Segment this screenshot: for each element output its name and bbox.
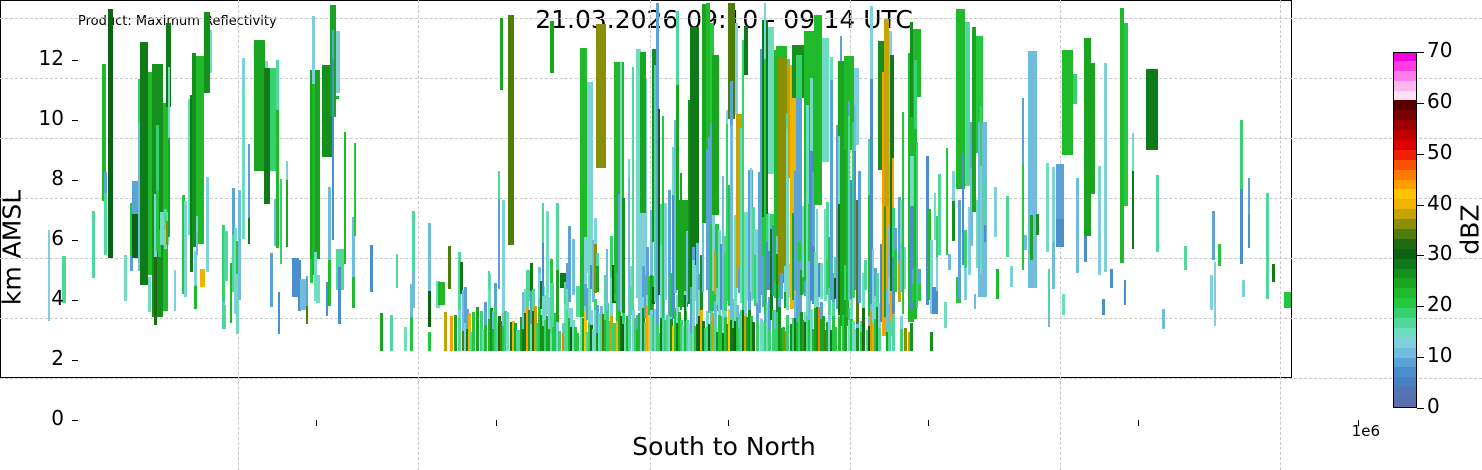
reflectivity-column [556, 203, 559, 270]
reflectivity-column [708, 137, 711, 196]
reflectivity-column [830, 80, 833, 300]
reflectivity-column [354, 143, 356, 236]
reflectivity-column [606, 249, 608, 311]
reflectivity-column [412, 272, 415, 308]
colorbar-band [1394, 357, 1416, 368]
reflectivity-column [1132, 171, 1134, 249]
reflectivity-column [1048, 310, 1050, 327]
reflectivity-column [498, 199, 500, 289]
reflectivity-column [306, 276, 308, 306]
reflectivity-column [168, 67, 170, 138]
colorbar-band [1394, 52, 1416, 61]
reflectivity-column [1006, 196, 1009, 257]
colorbar-label-wrap: dBZ [1390, 160, 1482, 300]
reflectivity-column [194, 286, 197, 309]
colorbar-band [1394, 60, 1416, 71]
reflectivity-column [184, 201, 187, 297]
reflectivity-column [994, 187, 997, 236]
reflectivity-column [712, 55, 719, 215]
reflectivity-column [914, 60, 917, 128]
reflectivity-column [494, 283, 497, 306]
reflectivity-column [640, 52, 646, 213]
reflectivity-column [1062, 294, 1065, 315]
reflectivity-column [476, 307, 479, 351]
reflectivity-column [238, 190, 241, 300]
reflectivity-column [1056, 164, 1064, 219]
reflectivity-column [786, 315, 789, 351]
reflectivity-column [876, 273, 879, 307]
reflectivity-column [894, 228, 897, 250]
reflectivity-column [714, 301, 717, 326]
reflectivity-column [410, 317, 413, 351]
colorbar-tick-mark [1417, 154, 1424, 155]
reflectivity-column [344, 132, 346, 263]
reflectivity-column [1218, 244, 1221, 266]
reflectivity-column [1240, 120, 1243, 189]
reflectivity-column [278, 292, 280, 335]
reflectivity-column [814, 15, 822, 205]
colorbar-band [1394, 386, 1416, 397]
colorbar-tick-label: 60 [1427, 89, 1452, 113]
reflectivity-column [1104, 63, 1107, 272]
reflectivity-column [558, 331, 561, 351]
reflectivity-column [588, 163, 591, 189]
reflectivity-column [1240, 189, 1243, 264]
reflectivity-column [856, 328, 859, 351]
reflectivity-column [1084, 236, 1087, 261]
reflectivity-column [568, 226, 571, 302]
reflectivity-column [910, 323, 913, 351]
reflectivity-column [964, 268, 967, 300]
reflectivity-column [590, 310, 593, 325]
y-axis-label-wrap: km AMSL [0, 88, 128, 288]
colorbar-band [1394, 119, 1416, 130]
reflectivity-column [900, 329, 903, 351]
reflectivity-column [242, 88, 245, 239]
y-tick-mark [72, 360, 78, 361]
reflectivity-column [248, 144, 250, 218]
reflectivity-column [622, 198, 625, 313]
reflectivity-column [1022, 164, 1024, 270]
reflectivity-column [656, 3, 659, 57]
reflectivity-column [200, 269, 205, 286]
reflectivity-column [316, 275, 320, 304]
colorbar-tick-mark [1417, 408, 1424, 409]
reflectivity-column [936, 258, 938, 292]
reflectivity-column [1248, 178, 1250, 215]
reflectivity-column [870, 6, 873, 78]
reflectivity-column [1084, 38, 1091, 235]
reflectivity-column [1091, 63, 1095, 194]
reflectivity-column [286, 161, 288, 179]
reflectivity-column [858, 171, 861, 303]
y-tick-mark [72, 300, 78, 301]
colorbar-band [1394, 367, 1416, 378]
reflectivity-column [1102, 299, 1105, 315]
reflectivity-column [1212, 211, 1215, 260]
reflectivity-column [174, 270, 176, 310]
reflectivity-column [472, 312, 475, 351]
reflectivity-column [336, 31, 340, 93]
colorbar-band [1394, 70, 1416, 81]
colorbar-band [1394, 100, 1416, 111]
reflectivity-column [312, 16, 315, 84]
reflectivity-column [338, 267, 341, 323]
colorbar-band [1394, 90, 1416, 101]
y-tick-mark [72, 60, 78, 61]
reflectivity-column [964, 230, 967, 268]
reflectivity-column [222, 305, 226, 328]
reflectivity-column [1028, 112, 1037, 288]
reflectivity-column [974, 294, 976, 309]
reflectivity-column [1110, 269, 1113, 288]
reflectivity-column [428, 332, 431, 351]
reflectivity-column [888, 321, 891, 351]
reflectivity-column [1098, 193, 1101, 275]
reflectivity-column [1184, 246, 1187, 270]
reflectivity-column [916, 142, 918, 308]
reflectivity-column [280, 226, 282, 264]
reflectivity-column [498, 171, 500, 199]
reflectivity-column [1272, 264, 1275, 281]
reflectivity-column [904, 247, 906, 289]
reflectivity-column [820, 263, 823, 298]
reflectivity-column [270, 253, 273, 308]
reflectivity-column [1214, 262, 1216, 326]
reflectivity-column [502, 200, 505, 313]
reflectivity-column [508, 15, 514, 244]
colorbar-tick-mark [1417, 52, 1424, 53]
x-tick-mark [928, 420, 929, 426]
reflectivity-column [944, 302, 947, 328]
reflectivity-column [332, 30, 334, 59]
reflectivity-column [904, 328, 907, 351]
reflectivity-column [692, 247, 695, 261]
reflectivity-column [556, 270, 559, 321]
reflectivity-column [958, 200, 961, 256]
reflectivity-column [938, 174, 941, 255]
y-tick-label: 12 [22, 46, 64, 70]
colorbar-band [1394, 377, 1416, 388]
reflectivity-column [892, 315, 895, 351]
reflectivity-column [276, 60, 279, 110]
reflectivity-column [844, 316, 847, 351]
reflectivity-column [996, 269, 999, 299]
reflectivity-column [768, 27, 774, 174]
reflectivity-column [328, 260, 331, 306]
reflectivity-column [894, 250, 897, 292]
reflectivity-column [628, 159, 630, 178]
reflectivity-column [448, 246, 451, 289]
reflectivity-column [140, 42, 148, 285]
reflectivity-column [834, 327, 837, 351]
reflectivity-column [764, 3, 766, 59]
y-tick-label: 2 [22, 346, 64, 370]
reflectivity-data [0, 0, 1292, 378]
colorbar-band [1394, 317, 1416, 328]
reflectivity-column [1073, 74, 1077, 104]
reflectivity-column [312, 84, 315, 275]
colorbar-band [1394, 80, 1416, 91]
reflectivity-column [242, 58, 245, 88]
reflectivity-column [822, 38, 828, 162]
reflectivity-column [756, 321, 759, 351]
reflectivity-column [276, 110, 279, 248]
reflectivity-column [932, 287, 938, 313]
reflectivity-column [1284, 292, 1291, 307]
reflectivity-column [864, 260, 867, 290]
reflectivity-column [664, 203, 667, 300]
reflectivity-column [744, 26, 748, 74]
reflectivity-column [370, 245, 373, 292]
reflectivity-column [542, 243, 544, 297]
reflectivity-column [148, 277, 151, 312]
reflectivity-column [730, 125, 733, 320]
reflectivity-column [798, 242, 801, 260]
reflectivity-column [206, 177, 209, 272]
reflectivity-column [862, 308, 865, 351]
x-tick-mark [1138, 420, 1139, 426]
reflectivity-column [488, 271, 490, 289]
reflectivity-column [286, 180, 288, 248]
reflectivity-column [632, 67, 634, 310]
reflectivity-column [830, 57, 833, 80]
colorbar-tick-mark [1417, 357, 1424, 358]
reflectivity-column [980, 166, 982, 274]
reflectivity-column [542, 203, 544, 242]
reflectivity-column [588, 188, 591, 322]
colorbar-band [1394, 337, 1416, 348]
colorbar-band [1394, 110, 1416, 121]
reflectivity-column [946, 148, 948, 254]
reflectivity-column [196, 216, 198, 231]
reflectivity-column [584, 237, 587, 284]
reflectivity-column [1162, 309, 1165, 329]
colorbar-band [1394, 347, 1416, 358]
radar-curtain-figure: Product: Maximum Reflectivity 21.03.2026… [0, 0, 1482, 470]
reflectivity-column [352, 277, 355, 308]
reflectivity-column [550, 21, 554, 74]
reflectivity-column [1052, 242, 1055, 289]
reflectivity-column [596, 266, 599, 292]
reflectivity-column [680, 173, 682, 311]
reflectivity-column [328, 187, 331, 260]
colorbar-tick-mark [1417, 306, 1424, 307]
reflectivity-column [735, 23, 739, 115]
colorbar-band [1394, 396, 1416, 407]
reflectivity-column [796, 55, 802, 96]
x-axis-offset-text: 1e6 [1300, 422, 1380, 440]
colorbar-band [1394, 149, 1416, 160]
reflectivity-column [154, 257, 157, 325]
reflectivity-column [576, 333, 579, 351]
reflectivity-column [854, 105, 856, 152]
colorbar-tick-label: 70 [1427, 38, 1452, 62]
reflectivity-column [596, 253, 599, 266]
reflectivity-column [1124, 23, 1128, 207]
reflectivity-column [572, 239, 575, 294]
reflectivity-column [1024, 235, 1027, 251]
reflectivity-column [506, 312, 509, 351]
y-tick-mark [72, 420, 78, 421]
reflectivity-column [948, 254, 951, 269]
reflectivity-column [816, 209, 818, 264]
reflectivity-column [1062, 50, 1073, 156]
colorbar-band [1394, 307, 1416, 318]
reflectivity-column [1156, 175, 1159, 252]
reflectivity-column [848, 101, 850, 116]
x-tick-mark [316, 420, 317, 426]
reflectivity-column [396, 254, 398, 288]
colorbar-band [1394, 139, 1416, 150]
reflectivity-column [1146, 69, 1158, 150]
reflectivity-column [958, 256, 961, 298]
reflectivity-column [438, 282, 445, 305]
reflectivity-column [196, 232, 198, 255]
colorbar-band [1394, 327, 1416, 338]
reflectivity-column [890, 55, 894, 158]
reflectivity-column [444, 312, 447, 351]
reflectivity-column [1132, 133, 1134, 171]
reflectivity-column [1056, 219, 1064, 248]
x-tick-mark [728, 420, 729, 426]
x-tick-mark [496, 420, 497, 426]
reflectivity-column [900, 316, 903, 329]
reflectivity-column [952, 201, 955, 241]
reflectivity-column [930, 332, 933, 351]
reflectivity-column [1022, 98, 1024, 164]
reflectivity-column [768, 330, 771, 351]
reflectivity-column [980, 106, 982, 166]
reflectivity-column [1028, 51, 1037, 112]
y-axis-label: km AMSL [0, 138, 27, 358]
reflectivity-column [596, 24, 606, 169]
reflectivity-column [984, 225, 986, 242]
reflectivity-column [332, 59, 334, 240]
reflectivity-column [484, 302, 487, 325]
reflectivity-column [1048, 269, 1050, 310]
reflectivity-column [300, 279, 306, 310]
reflectivity-column [156, 125, 159, 192]
reflectivity-column [484, 325, 487, 351]
reflectivity-column [280, 179, 282, 227]
reflectivity-column [458, 318, 461, 351]
reflectivity-column [450, 316, 453, 351]
reflectivity-column [194, 251, 197, 286]
reflectivity-column [390, 315, 393, 351]
reflectivity-column [412, 211, 415, 271]
y-tick-label: 4 [22, 286, 64, 310]
y-tick-label: 0 [22, 406, 64, 430]
reflectivity-column [676, 11, 679, 85]
reflectivity-column [1210, 275, 1213, 310]
reflectivity-column [1098, 166, 1101, 193]
reflectivity-column [878, 328, 881, 351]
reflectivity-column [1010, 266, 1013, 287]
reflectivity-column [1248, 215, 1250, 248]
reflectivity-column [428, 223, 431, 291]
reflectivity-column [168, 138, 170, 237]
reflectivity-column [810, 78, 813, 151]
colorbar-band [1394, 129, 1416, 140]
reflectivity-column [380, 313, 383, 351]
colorbar-tick-label: 10 [1427, 343, 1452, 367]
reflectivity-column [816, 296, 819, 307]
reflectivity-column [306, 306, 308, 324]
reflectivity-column [530, 263, 533, 291]
reflectivity-column [1076, 178, 1079, 273]
plot-area [0, 0, 1292, 378]
reflectivity-column [1036, 214, 1039, 235]
reflectivity-column [1242, 280, 1245, 298]
reflectivity-column [984, 179, 986, 225]
reflectivity-column [594, 218, 597, 244]
reflectivity-column [500, 18, 503, 90]
reflectivity-column [454, 315, 457, 351]
reflectivity-column [224, 231, 228, 281]
colorbar-label: dBZ [1456, 150, 1482, 310]
reflectivity-column [248, 218, 250, 244]
reflectivity-column [1124, 280, 1126, 305]
reflectivity-column [952, 171, 955, 201]
colorbar-tick-mark [1417, 103, 1424, 104]
reflectivity-column [730, 81, 733, 125]
x-axis-label: South to North [78, 432, 1370, 461]
reflectivity-column [404, 327, 407, 351]
reflectivity-column [210, 30, 212, 73]
reflectivity-column [752, 322, 755, 351]
reflectivity-column [1266, 193, 1269, 299]
reflectivity-column [1030, 215, 1033, 259]
reflectivity-column [1046, 163, 1049, 252]
colorbar-tick-label: 0 [1427, 394, 1440, 418]
reflectivity-column [1052, 167, 1055, 243]
reflectivity-column [428, 291, 431, 327]
reflectivity-column [780, 273, 783, 298]
